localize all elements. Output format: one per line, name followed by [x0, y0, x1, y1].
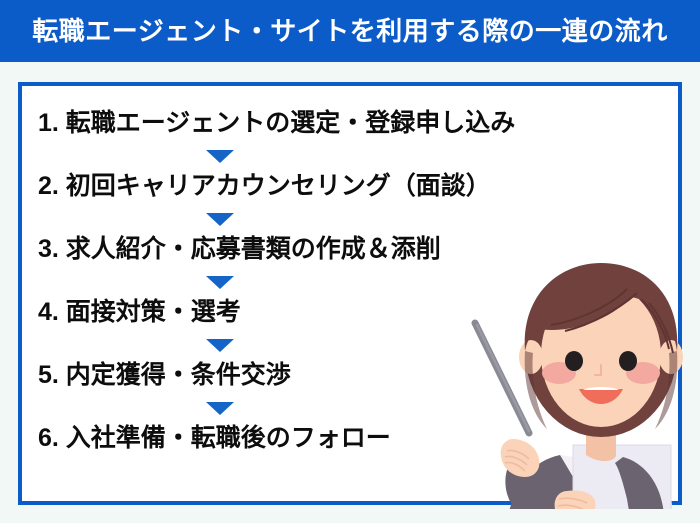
page-title: 転職エージェント・サイトを利用する際の一連の流れ [32, 18, 667, 44]
list-item: 3. 求人紹介・応募書類の作成＆添削 [38, 218, 558, 281]
infographic-canvas: 転職エージェント・サイトを利用する際の一連の流れ 1. 転職エージェントの選定・… [0, 0, 700, 523]
step-label: 6. 入社準備・転職後のフォロー [38, 426, 391, 451]
step-label: 5. 内定獲得・条件交渉 [38, 363, 291, 388]
bottom-strip [0, 509, 700, 523]
step-label: 4. 面接対策・選考 [38, 300, 241, 325]
header-bar: 転職エージェント・サイトを利用する際の一連の流れ [0, 0, 700, 62]
step-label: 1. 転職エージェントの選定・登録申し込み [38, 111, 515, 136]
flow-step-list: 1. 転職エージェントの選定・登録申し込み 2. 初回キャリアカウンセリング（面… [38, 92, 558, 470]
step-label: 3. 求人紹介・応募書類の作成＆添削 [38, 237, 441, 262]
step-label: 2. 初回キャリアカウンセリング（面談） [38, 174, 491, 199]
list-item: 4. 面接対策・選考 [38, 281, 558, 344]
list-item: 6. 入社準備・転職後のフォロー [38, 407, 558, 470]
list-item: 2. 初回キャリアカウンセリング（面談） [38, 155, 558, 218]
list-item: 5. 内定獲得・条件交渉 [38, 344, 558, 407]
list-item: 1. 転職エージェントの選定・登録申し込み [38, 92, 558, 155]
